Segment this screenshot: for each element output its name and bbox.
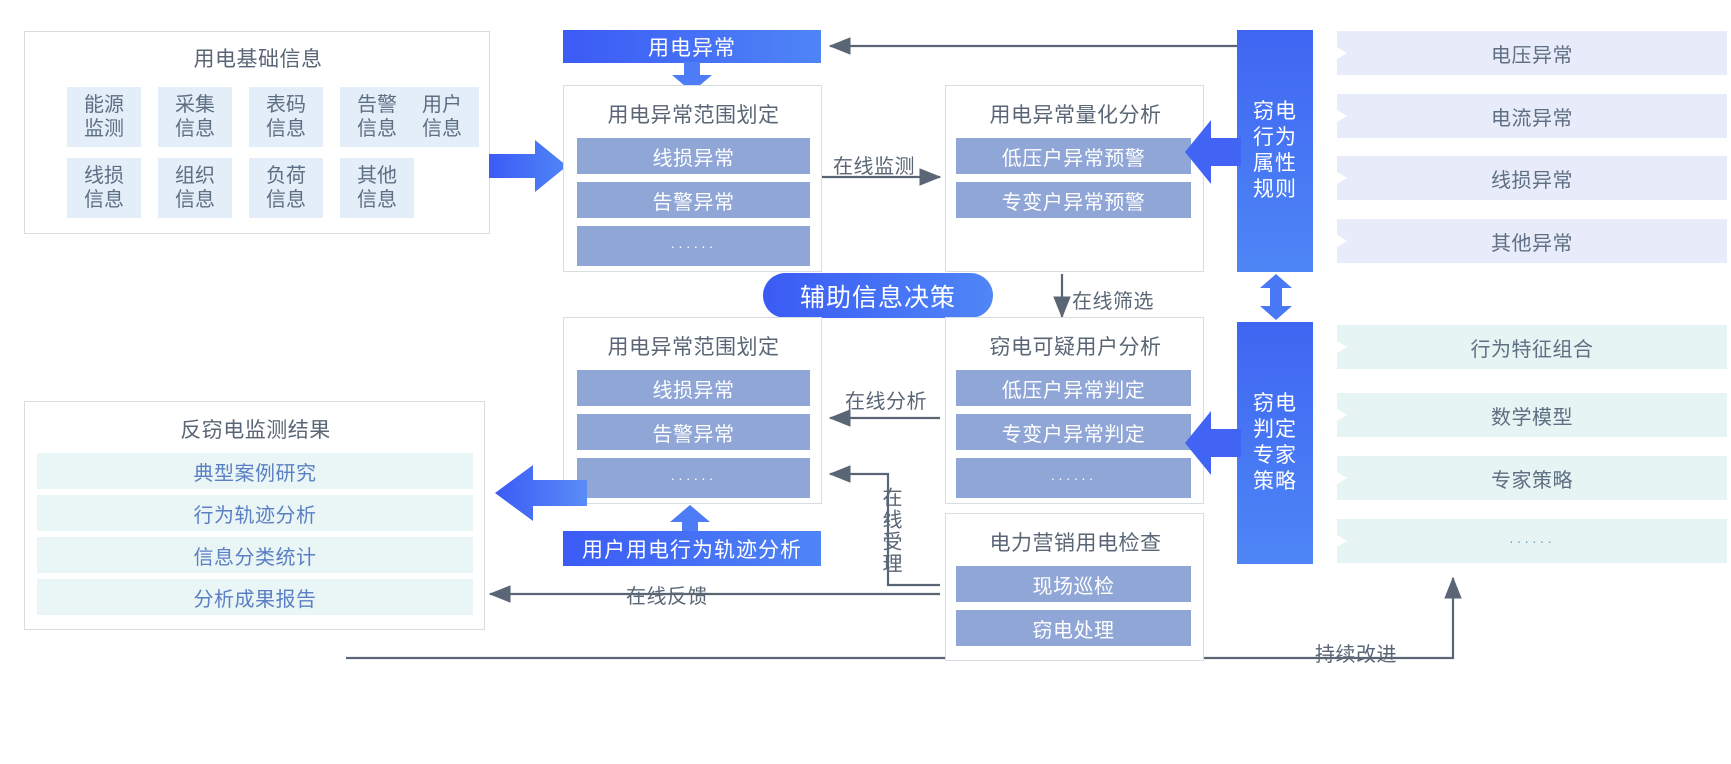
anomaly-tag[interactable]: 电压异常 — [1337, 31, 1727, 75]
basic-info-title: 用电基础信息 — [25, 43, 491, 73]
connector-label-online-accept: 在线受理 — [879, 487, 901, 575]
scope-top-row[interactable]: ······ — [577, 226, 810, 266]
suspect-analysis-row[interactable]: ······ — [956, 458, 1191, 498]
connector-label-online-analysis: 在线分析 — [845, 385, 927, 414]
connector-label-online-filter: 在线筛选 — [1072, 285, 1154, 314]
scope-bottom-panel: 用电异常范围划定 线损异常 告警异常 ······ — [563, 317, 822, 504]
marketing-check-row[interactable]: 窃电处理 — [956, 610, 1191, 646]
scope-bottom-row[interactable]: ······ — [577, 458, 810, 498]
strategy-tag[interactable]: 数学模型 — [1337, 393, 1727, 437]
quant-analysis-panel: 用电异常量化分析 低压户异常预警 专变户异常预警 — [945, 85, 1204, 272]
basic-info-panel: 用电基础信息 能源 监测 采集 信息 表码 信息 告警 信息 用户 信息 线损 … — [24, 31, 490, 234]
suspect-analysis-title: 窃电可疑用户分析 — [946, 331, 1205, 361]
results-row[interactable]: 典型案例研究 — [37, 453, 473, 489]
results-title: 反窃电监测结果 — [25, 414, 486, 444]
connector-label-online-monitor: 在线监测 — [833, 150, 915, 179]
basic-info-chip[interactable]: 采集 信息 — [158, 87, 232, 147]
trace-banner[interactable]: 用户用电行为轨迹分析 — [563, 531, 821, 566]
connector-label-online-feedback: 在线反馈 — [626, 580, 708, 609]
connector-label-continuous-improve: 持续改进 — [1315, 638, 1397, 667]
marketing-check-row[interactable]: 现场巡检 — [956, 566, 1191, 602]
scope-bottom-title: 用电异常范围划定 — [564, 331, 823, 361]
rule-bars-double-arrow-icon — [1260, 274, 1292, 320]
rule-bar-expert[interactable]: 窃电 判定 专家 策略 — [1237, 322, 1313, 564]
results-row[interactable]: 分析成果报告 — [37, 579, 473, 615]
suspect-analysis-row[interactable]: 专变户异常判定 — [956, 414, 1191, 450]
results-flow-arrow-icon — [495, 465, 587, 521]
basic-info-chip[interactable]: 线损 信息 — [67, 158, 141, 218]
basic-info-chip[interactable]: 组织 信息 — [158, 158, 232, 218]
marketing-check-title: 电力营销用电检查 — [946, 527, 1205, 557]
decision-pill[interactable]: 辅助信息决策 — [763, 273, 993, 318]
strategy-tag[interactable]: ······ — [1337, 519, 1727, 563]
strategy-tag[interactable]: 行为特征组合 — [1337, 325, 1727, 369]
scope-top-title: 用电异常范围划定 — [564, 99, 823, 129]
basic-info-chip[interactable]: 能源 监测 — [67, 87, 141, 147]
basic-info-chip[interactable]: 负荷 信息 — [249, 158, 323, 218]
basic-info-chip[interactable]: 表码 信息 — [249, 87, 323, 147]
scope-bottom-row[interactable]: 线损异常 — [577, 370, 810, 406]
suspect-analysis-panel: 窃电可疑用户分析 低压户异常判定 专变户异常判定 ······ — [945, 317, 1204, 504]
basic-info-chip[interactable]: 告警 信息 — [340, 87, 414, 147]
basic-info-chip[interactable]: 其他 信息 — [340, 158, 414, 218]
anomaly-tag[interactable]: 电流异常 — [1337, 94, 1727, 138]
results-panel: 反窃电监测结果 典型案例研究 行为轨迹分析 信息分类统计 分析成果报告 — [24, 401, 485, 630]
results-row[interactable]: 行为轨迹分析 — [37, 495, 473, 531]
scope-top-row[interactable]: 线损异常 — [577, 138, 810, 174]
quant-analysis-title: 用电异常量化分析 — [946, 99, 1205, 129]
scope-bottom-row[interactable]: 告警异常 — [577, 414, 810, 450]
diagram-canvas: 用电基础信息 能源 监测 采集 信息 表码 信息 告警 信息 用户 信息 线损 … — [0, 0, 1731, 764]
basic-info-flow-arrow-icon — [489, 140, 567, 192]
results-row[interactable]: 信息分类统计 — [37, 537, 473, 573]
quant-analysis-row[interactable]: 专变户异常预警 — [956, 182, 1191, 218]
anomaly-tag[interactable]: 线损异常 — [1337, 156, 1727, 200]
rule-bar-expert-left-arrow-icon — [1185, 411, 1241, 475]
basic-info-chip[interactable]: 用户 信息 — [405, 87, 479, 147]
strategy-tag[interactable]: 专家策略 — [1337, 456, 1727, 500]
rule-bar-attribute[interactable]: 窃电 行为 属性 规则 — [1237, 30, 1313, 272]
scope-top-row[interactable]: 告警异常 — [577, 182, 810, 218]
quant-analysis-row[interactable]: 低压户异常预警 — [956, 138, 1191, 174]
rule-bar-attribute-left-arrow-icon — [1185, 120, 1241, 184]
marketing-check-panel: 电力营销用电检查 现场巡检 窃电处理 — [945, 513, 1204, 661]
scope-top-panel: 用电异常范围划定 线损异常 告警异常 ······ — [563, 85, 822, 272]
anomaly-tag[interactable]: 其他异常 — [1337, 219, 1727, 263]
suspect-analysis-row[interactable]: 低压户异常判定 — [956, 370, 1191, 406]
anomaly-banner[interactable]: 用电异常 — [563, 30, 821, 63]
